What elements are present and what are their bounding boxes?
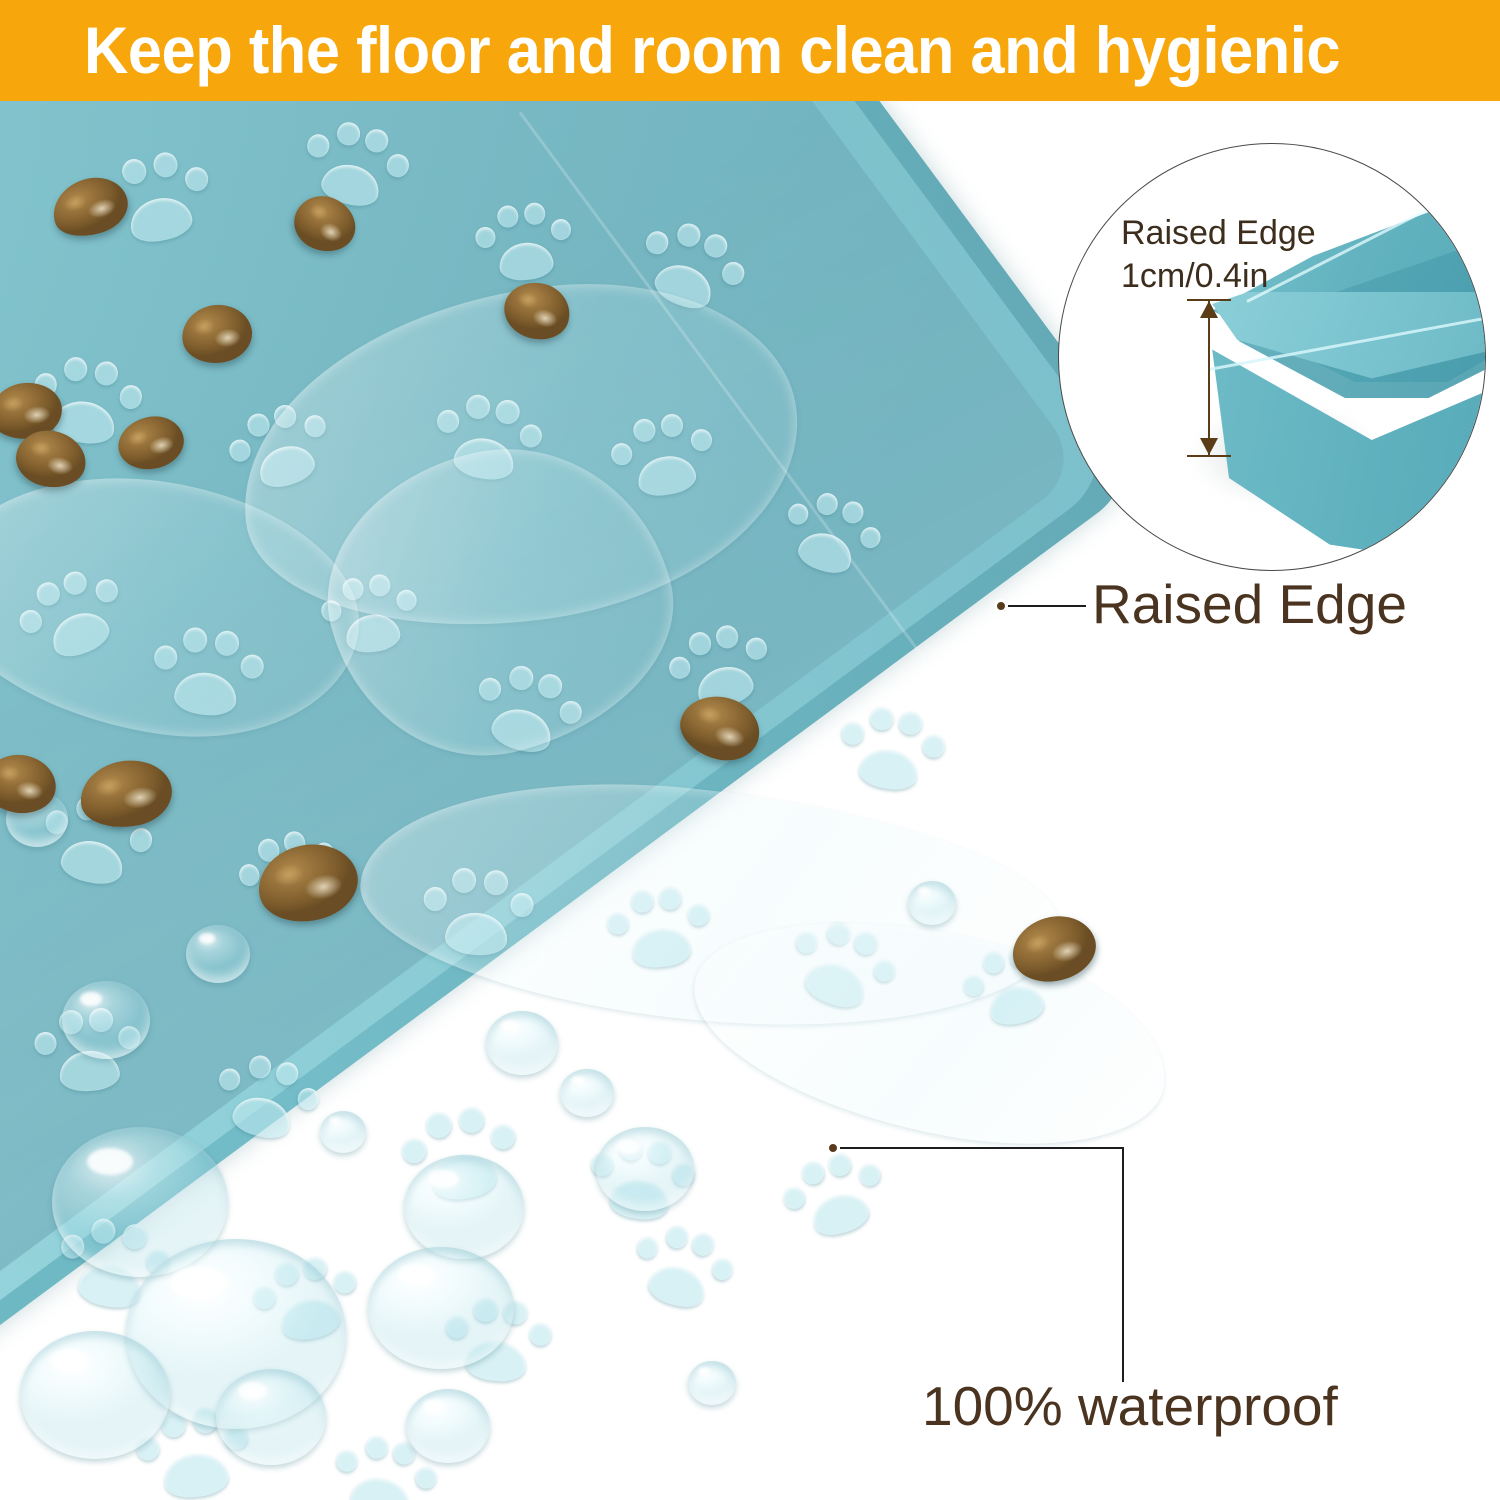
waterproof-leader-line-vertical — [1122, 1147, 1124, 1382]
water-droplet — [186, 925, 250, 983]
raised-edge-callout-dot — [994, 599, 1008, 613]
water-droplet — [320, 1111, 366, 1153]
waterproof-callout-dot — [826, 1141, 840, 1155]
water-droplet — [908, 881, 956, 925]
paw-print — [620, 1208, 747, 1324]
dimension-arrow-shaft — [1208, 299, 1210, 457]
water-droplet — [20, 1331, 170, 1459]
dimension-label-line-2: 1cm/0.4in — [1121, 257, 1268, 295]
dimension-tick-bottom — [1187, 455, 1231, 457]
paw-print — [468, 192, 581, 290]
water-droplet — [62, 981, 150, 1059]
paw-print — [829, 693, 954, 803]
water-droplet — [368, 1247, 514, 1369]
water-droplet — [560, 1069, 614, 1117]
water-droplet — [688, 1361, 736, 1405]
dimension-arrow — [1187, 299, 1231, 457]
banner-title: Keep the floor and room clean and hygien… — [84, 10, 1340, 90]
water-droplet — [486, 1011, 558, 1075]
dimension-arrowhead-bottom — [1200, 438, 1218, 455]
water-droplet — [404, 1155, 524, 1259]
waterproof-callout-label: 100% waterproof — [922, 1374, 1338, 1438]
water-droplet — [596, 1127, 694, 1211]
dimension-label-line-1: Raised Edge — [1121, 214, 1316, 252]
raised-edge-leader-line — [1008, 605, 1086, 607]
raised-edge-callout-label: Raised Edge — [1092, 572, 1407, 636]
raised-edge-dimension-label: Raised Edge1cm/0.4in — [1121, 212, 1316, 298]
waterproof-leader-line-horizontal — [840, 1147, 1124, 1149]
water-droplet — [406, 1389, 490, 1463]
dimension-arrowhead-top — [1200, 301, 1218, 318]
water-droplet — [216, 1369, 326, 1465]
header-banner: Keep the floor and room clean and hygien… — [0, 0, 1500, 101]
product-feature-image: Keep the floor and room clean and hygien… — [0, 0, 1500, 1500]
raised-edge-magnifier-inset: Raised Edge1cm/0.4in — [1058, 143, 1486, 571]
